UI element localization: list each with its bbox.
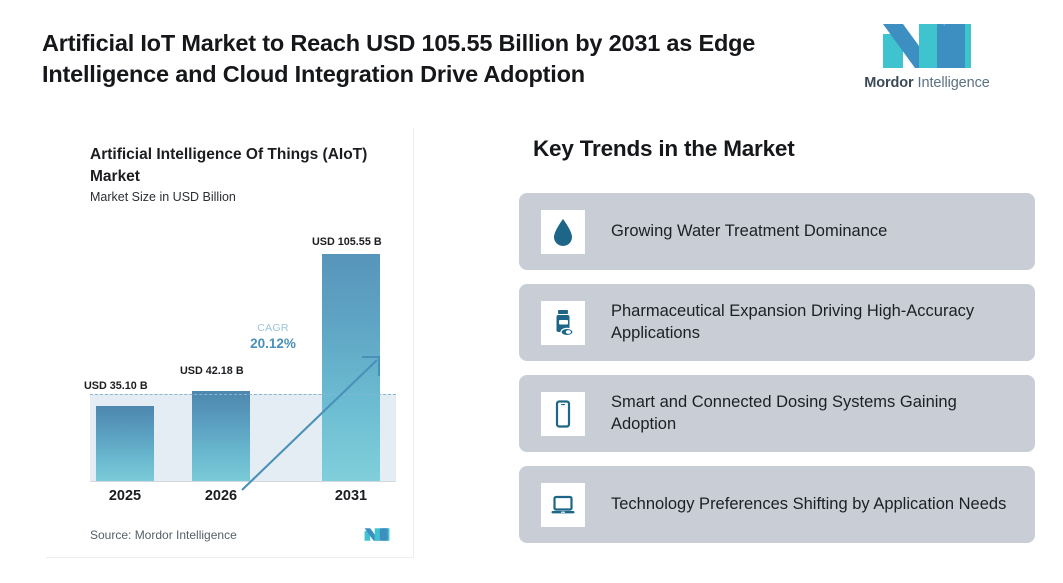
chart-title: Artificial Intelligence Of Things (AIoT)… bbox=[90, 144, 390, 188]
brand-logo: Mordor Intelligence bbox=[862, 22, 992, 91]
trend-label: Smart and Connected Dosing Systems Gaini… bbox=[611, 392, 1017, 436]
x-tick-2026: 2026 bbox=[192, 488, 250, 504]
trend-label: Pharmaceutical Expansion Driving High-Ac… bbox=[611, 301, 1017, 345]
brand-name-primary: Mordor bbox=[864, 75, 913, 91]
trend-card-dosing-systems[interactable]: Smart and Connected Dosing Systems Gaini… bbox=[519, 375, 1035, 452]
mordor-m-mark-icon bbox=[364, 526, 390, 543]
trend-card-water-treatment[interactable]: Growing Water Treatment Dominance bbox=[519, 193, 1035, 270]
trends-heading: Key Trends in the Market bbox=[533, 136, 795, 162]
x-tick-2031: 2031 bbox=[322, 488, 380, 504]
page-title: Artificial IoT Market to Reach USD 105.5… bbox=[42, 28, 832, 91]
mordor-m-logo-icon bbox=[881, 22, 973, 70]
infographic-page: Artificial IoT Market to Reach USD 105.5… bbox=[0, 0, 1063, 583]
smartphone-icon bbox=[541, 392, 585, 436]
trend-card-pharmaceutical[interactable]: Pharmaceutical Expansion Driving High-Ac… bbox=[519, 284, 1035, 361]
cagr-label: CAGR bbox=[242, 322, 304, 335]
cagr-value: 20.12% bbox=[242, 335, 304, 352]
brand-logo-text: Mordor Intelligence bbox=[862, 75, 992, 91]
x-axis-labels: 2025 2026 2031 bbox=[90, 488, 396, 514]
chart-card: Artificial Intelligence Of Things (AIoT)… bbox=[46, 128, 414, 558]
brand-name-secondary: Intelligence bbox=[918, 75, 990, 91]
trend-label: Growing Water Treatment Dominance bbox=[611, 221, 887, 243]
trend-label: Technology Preferences Shifting by Appli… bbox=[611, 494, 1006, 516]
pill-bottle-icon bbox=[541, 301, 585, 345]
source-label: Source: Mordor Intelligence bbox=[90, 528, 237, 542]
chart-subtitle: Market Size in USD Billion bbox=[90, 190, 236, 204]
laptop-icon bbox=[541, 483, 585, 527]
x-tick-2025: 2025 bbox=[96, 488, 154, 504]
cagr-annotation: CAGR 20.12% bbox=[242, 322, 304, 353]
chart-plot-area: USD 35.10 B USD 42.18 B USD 105.55 B CAG… bbox=[90, 224, 396, 482]
trend-card-technology-preferences[interactable]: Technology Preferences Shifting by Appli… bbox=[519, 466, 1035, 543]
bar-label-2031: USD 105.55 B bbox=[312, 236, 382, 248]
water-droplet-icon bbox=[541, 210, 585, 254]
chart-source-row: Source: Mordor Intelligence bbox=[90, 526, 390, 543]
